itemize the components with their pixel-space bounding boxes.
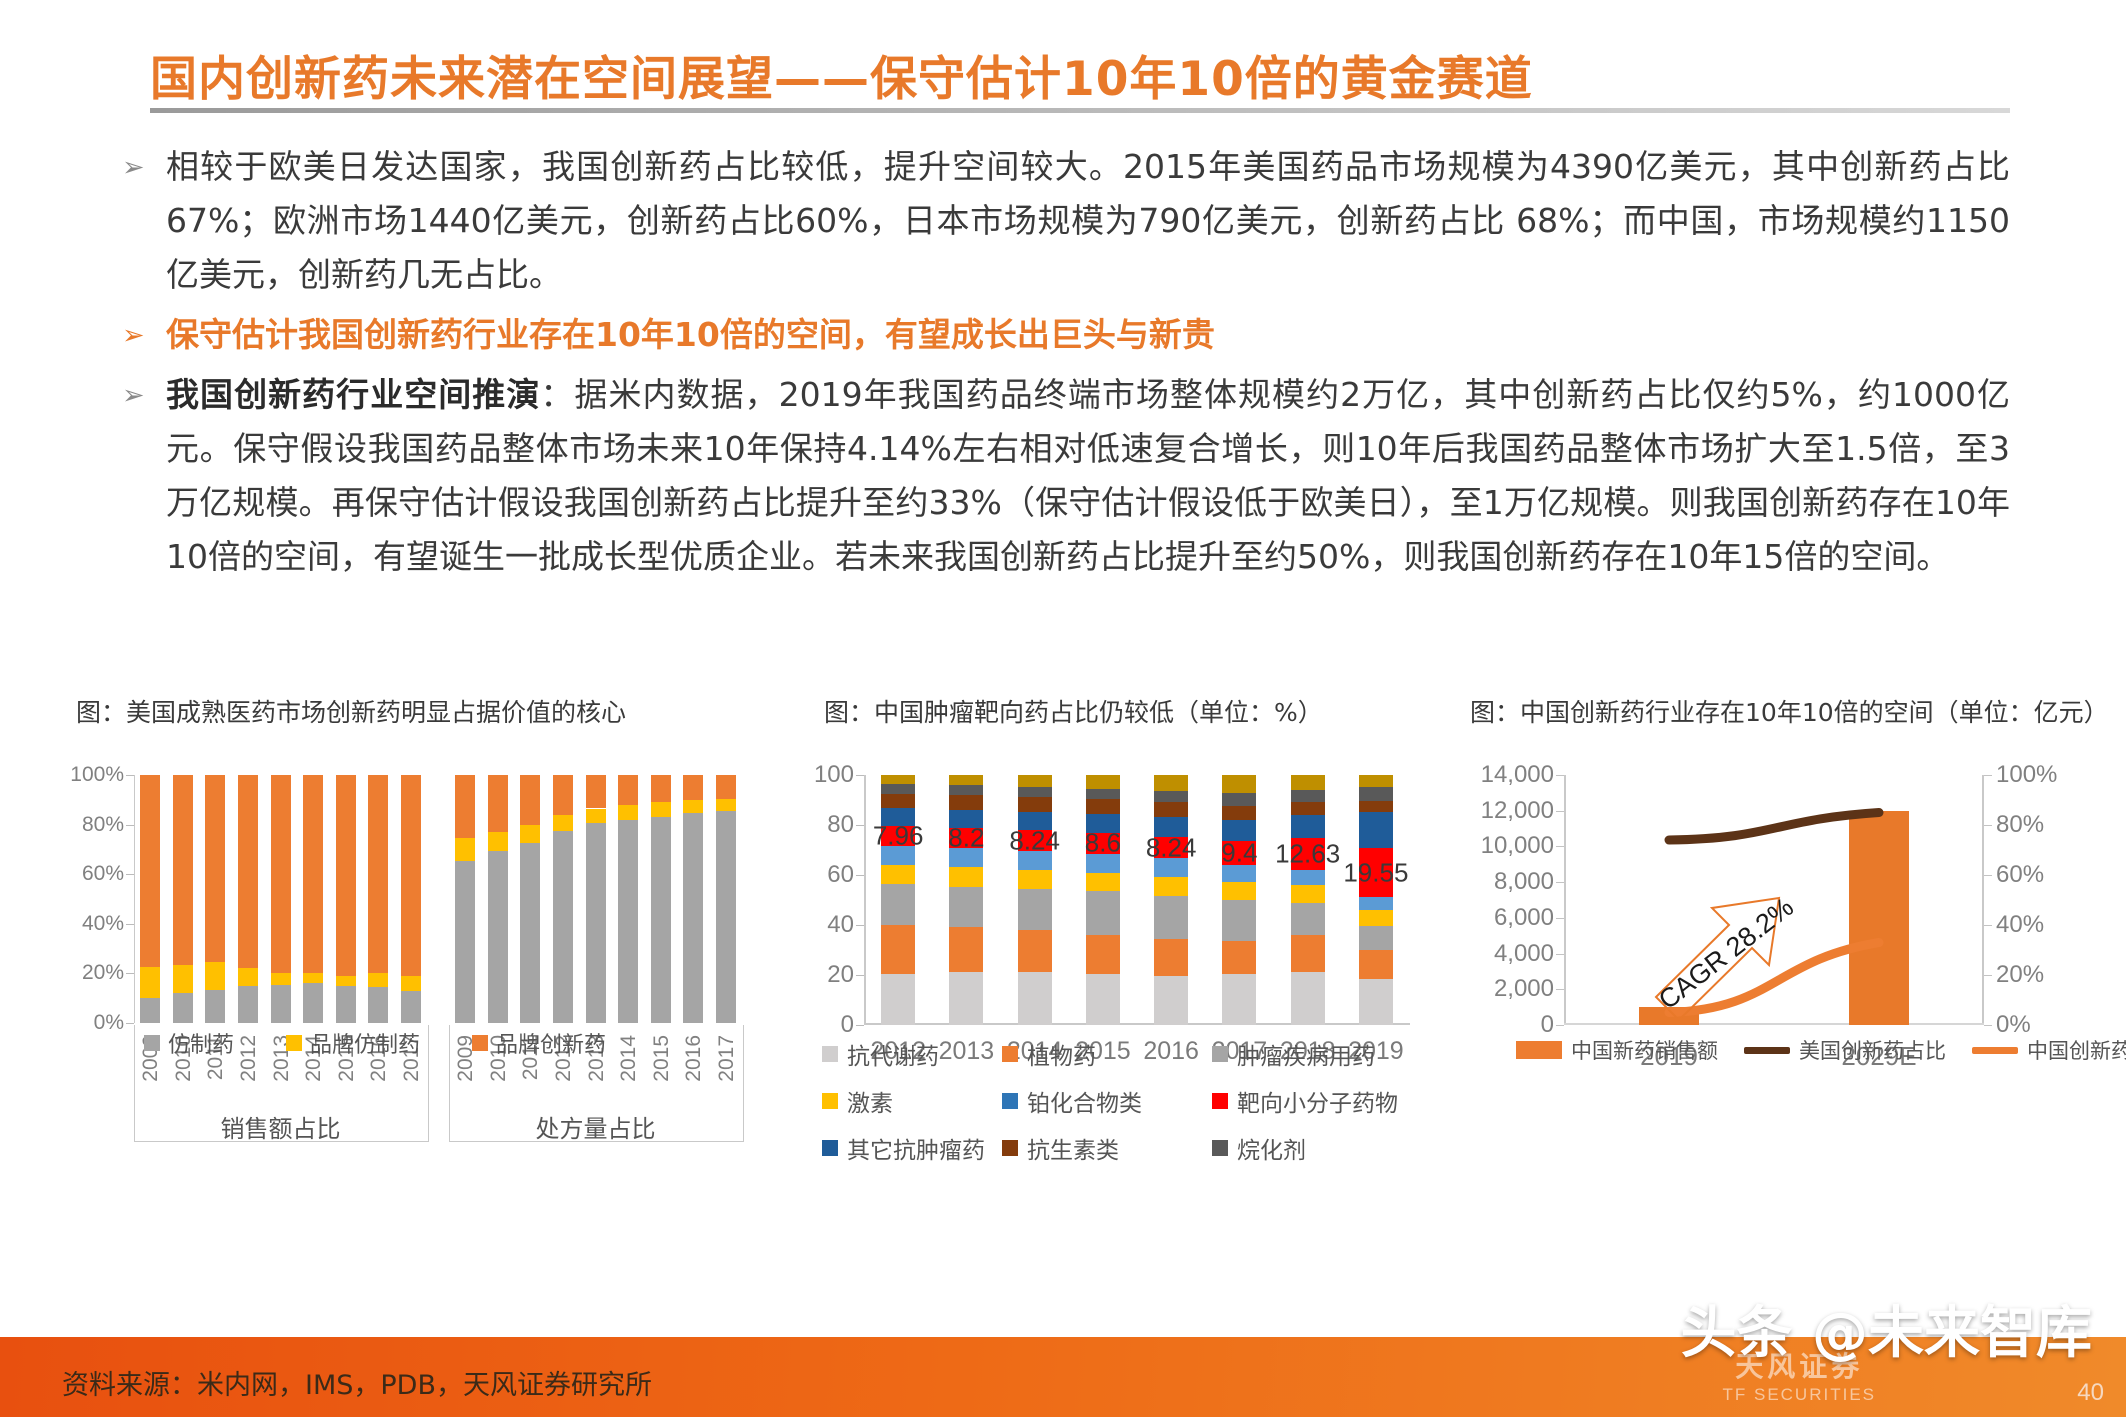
y-tick: [1556, 989, 1564, 990]
y-tick: [126, 924, 134, 925]
bar: [1086, 775, 1120, 1025]
bar: [488, 775, 508, 1023]
bar: [881, 775, 915, 1025]
bar-segment: [520, 825, 540, 844]
title-area: 国内创新药未来潜在空间展望——保守估计10年10倍的黄金赛道: [150, 40, 2000, 109]
bar-segment: [716, 799, 736, 811]
bar: [618, 775, 638, 1023]
bar-segment: [303, 973, 323, 983]
bar-segment: [368, 987, 388, 1023]
y-tick-label: 0%: [94, 1011, 124, 1035]
legend-swatch: [822, 1046, 838, 1062]
bar-segment: [1291, 802, 1325, 815]
y-tick: [856, 975, 864, 976]
chart-china-10x-legend: 中国新药销售额美国创新药占比中国创新药占比: [1516, 1035, 2126, 1065]
bar-segment: [173, 775, 193, 965]
bar: [716, 775, 736, 1023]
chart-china-targeted-legend: 抗代谢药植物药肿瘤疾病用药激素铂化合物类靶向小分子药物其它抗肿瘤药抗生素类烷化剂: [822, 1037, 1442, 1165]
bar-segment: [586, 823, 606, 1023]
legend-item[interactable]: 品牌创新药: [472, 1027, 606, 1059]
legend-swatch: [1972, 1047, 2018, 1054]
legend-swatch: [1212, 1140, 1228, 1156]
bar-segment: [1086, 789, 1120, 800]
data-label: 8.2: [948, 823, 984, 854]
legend-item[interactable]: 美国创新药占比: [1744, 1035, 1946, 1065]
legend-swatch: [822, 1093, 838, 1109]
bar-segment: [651, 802, 671, 817]
bar-segment: [1086, 974, 1120, 1025]
legend-swatch: [1002, 1046, 1018, 1062]
bar-segment: [553, 831, 573, 1023]
bar-segment: [238, 986, 258, 1023]
legend-item[interactable]: 肿瘤疾病用药: [1212, 1037, 1442, 1071]
bar-segment: [271, 973, 291, 984]
x-axis-line: [864, 1023, 1410, 1025]
bar-segment: [1018, 889, 1052, 930]
legend-label: 美国创新药占比: [1799, 1035, 1946, 1065]
bar-segment: [173, 993, 193, 1023]
y-tick: [1556, 918, 1564, 919]
data-label: 19.55: [1343, 857, 1408, 888]
y-tick-label: 12,000: [1481, 797, 1554, 825]
y-tick-label: 40: [827, 911, 854, 939]
title-divider: [150, 108, 2010, 113]
legend-item[interactable]: 植物药: [1002, 1037, 1212, 1071]
bar-segment: [1222, 806, 1256, 820]
chart-china-10x-plot: 02,0004,0006,0008,00010,00012,00014,0000…: [1564, 775, 1984, 1025]
y2-tick-label: 80%: [1996, 811, 2044, 839]
bar-segment: [1154, 896, 1188, 939]
bar: [271, 775, 291, 1023]
bar-segment: [1018, 787, 1052, 797]
y-tick: [856, 1025, 864, 1026]
bar-segment: [949, 867, 983, 887]
bar-segment: [1018, 870, 1052, 889]
bar-segment: [488, 832, 508, 851]
y2-tick: [1984, 975, 1992, 976]
y-tick: [126, 775, 134, 776]
y-tick-label: 20: [827, 961, 854, 989]
bar: [1359, 775, 1393, 1025]
bar-segment: [716, 811, 736, 1023]
bar-segment: [553, 815, 573, 831]
bar-segment: [1086, 873, 1120, 891]
legend-item[interactable]: 抗代谢药: [822, 1037, 1002, 1071]
bar-segment: [881, 974, 915, 1025]
chart-us-market-plot: 0%20%40%60%80%100%2009201020112012201320…: [134, 775, 742, 1023]
y-tick: [126, 825, 134, 826]
bar-segment: [520, 775, 540, 825]
legend-item[interactable]: 铂化合物类: [1002, 1084, 1212, 1118]
legend-label: 品牌仿制药: [310, 1027, 420, 1059]
bar-segment: [1359, 926, 1393, 951]
bar-segment: [1291, 790, 1325, 802]
y-tick-label: 4,000: [1494, 940, 1554, 968]
bar-segment: [881, 794, 915, 809]
bar-segment: [586, 809, 606, 824]
bar-segment: [1291, 972, 1325, 1025]
legend-item[interactable]: 中国创新药占比: [1972, 1035, 2126, 1065]
bullet-item-3: ➢ 我国创新药行业空间推演：据米内数据，2019年我国药品终端市场整体规模约2万…: [110, 368, 2010, 584]
bar-segment: [455, 861, 475, 1023]
bar-segment: [238, 775, 258, 968]
bar-segment: [1359, 897, 1393, 910]
legend-swatch: [1212, 1093, 1228, 1109]
bar-segment: [1086, 891, 1120, 935]
y2-tick: [1984, 875, 1992, 876]
y-tick: [1556, 846, 1564, 847]
bar-segment: [1359, 787, 1393, 801]
y-tick: [1556, 882, 1564, 883]
group-label: 处方量占比: [536, 1109, 656, 1144]
bullet-list: ➢ 相较于欧美日发达国家，我国创新药占比较低，提升空间较大。2015年美国药品市…: [110, 140, 2010, 590]
bar-segment: [488, 851, 508, 1023]
bar-segment: [455, 775, 475, 838]
y2-tick-label: 60%: [1996, 861, 2044, 889]
chart-china-10x-title: 图：中国创新药行业存在10年10倍的空间（单位：亿元）: [1470, 693, 2109, 729]
bar-segment: [683, 813, 703, 1023]
data-label: 8.6: [1085, 828, 1121, 859]
brand-logo-en: TF SECURITIES: [1722, 1385, 1876, 1404]
bar-segment: [1154, 791, 1188, 803]
slide-root: 国内创新药未来潜在空间展望——保守估计10年10倍的黄金赛道 ➢ 相较于欧美日发…: [0, 0, 2126, 1417]
y2-tick-label: 100%: [1996, 761, 2057, 789]
line-series: [1669, 813, 1879, 841]
legend-label: 烷化剂: [1237, 1131, 1306, 1165]
data-label: 8.24: [1009, 825, 1060, 856]
y-tick: [1556, 775, 1564, 776]
y2-tick: [1984, 1025, 1992, 1026]
bar: [205, 775, 225, 1023]
bar-segment: [1222, 974, 1256, 1025]
legend-label: 铂化合物类: [1027, 1084, 1142, 1118]
data-label: 12.63: [1275, 838, 1340, 869]
y-tick: [126, 1023, 134, 1024]
y-tick: [856, 775, 864, 776]
data-label: 7.96: [873, 820, 924, 851]
y-tick: [856, 875, 864, 876]
chart-us-market-title: 图：美国成熟医药市场创新药明显占据价值的核心: [76, 693, 626, 729]
legend-swatch: [822, 1140, 838, 1156]
bar-segment: [949, 795, 983, 810]
legend-swatch: [1002, 1140, 1018, 1156]
y-tick-label: 80%: [82, 813, 124, 837]
bar-segment: [1359, 812, 1393, 848]
bar-segment: [881, 925, 915, 974]
bar-segment: [140, 967, 160, 998]
y-tick-label: 8,000: [1494, 868, 1554, 896]
legend-swatch: [1516, 1041, 1562, 1059]
legend-label: 抗代谢药: [847, 1037, 939, 1071]
bar-segment: [205, 962, 225, 989]
y-tick: [1556, 954, 1564, 955]
bar-segment: [553, 775, 573, 815]
bar-segment: [1291, 870, 1325, 886]
legend-item[interactable]: 激素: [822, 1084, 1002, 1118]
bar-segment: [949, 775, 983, 785]
bar-segment: [1018, 972, 1052, 1026]
legend-label: 中国创新药占比: [2027, 1035, 2126, 1065]
y2-tick: [1984, 775, 1992, 776]
source-note: 资料来源：米内网，IMS，PDB，天风证券研究所: [62, 1363, 652, 1402]
bar-segment: [303, 775, 323, 973]
bar-segment: [401, 976, 421, 991]
bar-segment: [618, 820, 638, 1023]
bullet-lead-3: 我国创新药行业空间推演: [166, 375, 540, 414]
bar-segment: [1018, 797, 1052, 813]
bar-segment: [618, 775, 638, 805]
y-tick-label: 100%: [70, 763, 124, 787]
bar-segment: [368, 775, 388, 973]
legend-label: 品牌创新药: [496, 1027, 606, 1059]
bullet-item-2: ➢ 保守估计我国创新药行业存在10年10倍的空间，有望成长出巨头与新贵: [110, 308, 2010, 362]
legend-label: 仿制药: [168, 1027, 234, 1059]
bar-segment: [1154, 802, 1188, 817]
bullet-text-1: 相较于欧美日发达国家，我国创新药占比较低，提升空间较大。2015年美国药品市场规…: [166, 140, 2010, 302]
legend-swatch: [1002, 1093, 1018, 1109]
bar-segment: [881, 784, 915, 794]
legend-item[interactable]: 抗生素类: [1002, 1131, 1212, 1165]
bar: [553, 775, 573, 1023]
y-tick: [126, 973, 134, 974]
bar-segment: [586, 775, 606, 808]
y2-tick: [1984, 925, 1992, 926]
bar-segment: [368, 973, 388, 987]
bar-segment: [949, 972, 983, 1025]
page-number: 40: [2077, 1379, 2104, 1407]
bar-segment: [1359, 979, 1393, 1025]
bar: [368, 775, 388, 1023]
bar: [683, 775, 703, 1023]
bar-segment: [949, 785, 983, 795]
bar: [586, 775, 606, 1023]
bullet-marker-icon: ➢: [110, 140, 166, 194]
bar-segment: [1086, 935, 1120, 974]
bar: [1222, 775, 1256, 1025]
bar-segment: [1291, 903, 1325, 935]
bar-segment: [1359, 801, 1393, 813]
y-tick: [856, 925, 864, 926]
bar-segment: [1291, 935, 1325, 972]
bar-segment: [651, 775, 671, 802]
legend-label: 抗生素类: [1027, 1131, 1119, 1165]
bullet-marker-icon: ➢: [110, 368, 166, 422]
bar-segment: [1086, 799, 1120, 814]
bar-segment: [1154, 877, 1188, 896]
legend-label: 其它抗肿瘤药: [847, 1131, 985, 1165]
bar: [1291, 775, 1325, 1025]
bar-segment: [1222, 775, 1256, 793]
bullet-marker-icon: ➢: [110, 308, 166, 362]
legend-item[interactable]: 其它抗肿瘤药: [822, 1131, 1002, 1165]
bar-segment: [949, 887, 983, 928]
y-tick-label: 100: [814, 761, 854, 789]
bar-segment: [881, 865, 915, 884]
bar-segment: [1359, 775, 1393, 787]
y-tick-label: 60: [827, 861, 854, 889]
bar-segment: [140, 775, 160, 967]
y2-tick-label: 20%: [1996, 961, 2044, 989]
bar: [140, 775, 160, 1023]
legend-label: 中国新药销售额: [1571, 1035, 1718, 1065]
bar-segment: [1154, 976, 1188, 1026]
legend-label: 靶向小分子药物: [1237, 1084, 1398, 1118]
bar-segment: [618, 805, 638, 820]
bar-segment: [1359, 950, 1393, 979]
watermark: 头条 @未来智库: [1681, 1288, 2093, 1369]
legend-swatch: [144, 1035, 160, 1051]
bar: [1154, 775, 1188, 1025]
bar-segment: [520, 843, 540, 1023]
bar-segment: [1359, 910, 1393, 926]
bar-segment: [401, 775, 421, 976]
chart-us-market: 图：美国成熟医药市场创新药明显占据价值的核心 0%20%40%60%80%100…: [56, 735, 756, 1065]
legend-item[interactable]: 中国新药销售额: [1516, 1035, 1718, 1065]
y-tick-label: 2,000: [1494, 975, 1554, 1003]
bar-segment: [271, 775, 291, 973]
bar-segment: [1154, 775, 1188, 791]
y-tick: [1556, 1025, 1564, 1026]
bar-segment: [336, 976, 356, 986]
bar-segment: [1154, 939, 1188, 976]
bar-segment: [488, 775, 508, 832]
bar-segment: [881, 884, 915, 925]
bar: [455, 775, 475, 1023]
bar-segment: [1222, 900, 1256, 941]
chart-us-market-legend: 仿制药品牌仿制药品牌创新药: [144, 1027, 606, 1059]
y-tick-label: 0: [841, 1011, 854, 1039]
bar: [173, 775, 193, 1023]
bar: [336, 775, 356, 1023]
bar-segment: [140, 998, 160, 1023]
bar-segment: [683, 800, 703, 814]
y-tick-label: 14,000: [1481, 761, 1554, 789]
data-label: 8.24: [1146, 832, 1197, 863]
bar-segment: [205, 775, 225, 962]
chart-china-targeted-title: 图：中国肿瘤靶向药占比仍较低（单位：%）: [824, 693, 1323, 729]
legend-swatch: [472, 1035, 488, 1051]
bar-segment: [716, 775, 736, 799]
bar-segment: [1086, 775, 1120, 789]
legend-swatch: [1212, 1046, 1228, 1062]
bar-segment: [271, 985, 291, 1023]
chart-china-targeted-plot: 02040608010020127.9620138.220148.2420158…: [864, 775, 1410, 1025]
y-tick-label: 6,000: [1494, 904, 1554, 932]
bar-segment: [1222, 941, 1256, 974]
y-tick: [1556, 811, 1564, 812]
bar-segment: [651, 817, 671, 1023]
bar-segment: [1291, 775, 1325, 790]
bar-segment: [1222, 882, 1256, 900]
legend-item[interactable]: 品牌仿制药: [286, 1027, 420, 1059]
y-tick: [126, 874, 134, 875]
bar-segment: [1291, 885, 1325, 903]
y-tick-label: 10,000: [1481, 832, 1554, 860]
y-tick-label: 20%: [82, 961, 124, 985]
legend-swatch: [286, 1035, 302, 1051]
group-label: 销售额占比: [221, 1109, 341, 1144]
bar-segment: [881, 775, 915, 784]
y-tick-label: 80: [827, 811, 854, 839]
bar-segment: [238, 968, 258, 985]
bar-segment: [1291, 815, 1325, 838]
bar-segment: [455, 838, 475, 860]
legend-label: 激素: [847, 1084, 893, 1118]
y-axis-line: [864, 775, 866, 1025]
chart-china-10x: 图：中国创新药行业存在10年10倍的空间（单位：亿元） 02,0004,0006…: [1460, 735, 2100, 1065]
bar-segment: [1018, 930, 1052, 972]
bar-segment: [683, 775, 703, 800]
bar-segment: [173, 965, 193, 994]
bullet-text-3: 我国创新药行业空间推演：据米内数据，2019年我国药品终端市场整体规模约2万亿，…: [166, 368, 2010, 584]
bar-segment: [949, 927, 983, 972]
bar-segment: [205, 990, 225, 1023]
bar: [651, 775, 671, 1023]
bar-segment: [1222, 793, 1256, 806]
y2-tick-label: 40%: [1996, 911, 2044, 939]
bar: [1018, 775, 1052, 1025]
bullet-item-1: ➢ 相较于欧美日发达国家，我国创新药占比较低，提升空间较大。2015年美国药品市…: [110, 140, 2010, 302]
legend-label: 植物药: [1027, 1037, 1096, 1071]
y-tick-label: 60%: [82, 862, 124, 886]
bar-segment: [336, 986, 356, 1023]
legend-item[interactable]: 仿制药: [144, 1027, 234, 1059]
legend-label: 肿瘤疾病用药: [1237, 1037, 1375, 1071]
legend-item[interactable]: 烷化剂: [1212, 1131, 1442, 1165]
y-tick: [856, 825, 864, 826]
bar: [520, 775, 540, 1023]
y-axis-line: [134, 775, 135, 1023]
bar-segment: [401, 991, 421, 1023]
y-tick-label: 40%: [82, 912, 124, 936]
legend-swatch: [1744, 1047, 1790, 1054]
bar: [303, 775, 323, 1023]
data-label: 9.4: [1221, 837, 1257, 868]
bar-segment: [336, 775, 356, 976]
bullet-text-2: 保守估计我国创新药行业存在10年10倍的空间，有望成长出巨头与新贵: [166, 308, 1215, 362]
bar: [401, 775, 421, 1023]
chart-china-targeted: 图：中国肿瘤靶向药占比仍较低（单位：%） 02040608010020127.9…: [800, 735, 1440, 1065]
page-title: 国内创新药未来潜在空间展望——保守估计10年10倍的黄金赛道: [150, 40, 2000, 109]
y2-tick: [1984, 825, 1992, 826]
bar-segment: [1018, 775, 1052, 787]
bar: [238, 775, 258, 1023]
legend-item[interactable]: 靶向小分子药物: [1212, 1084, 1442, 1118]
bar-segment: [303, 983, 323, 1023]
bar: [949, 775, 983, 1025]
